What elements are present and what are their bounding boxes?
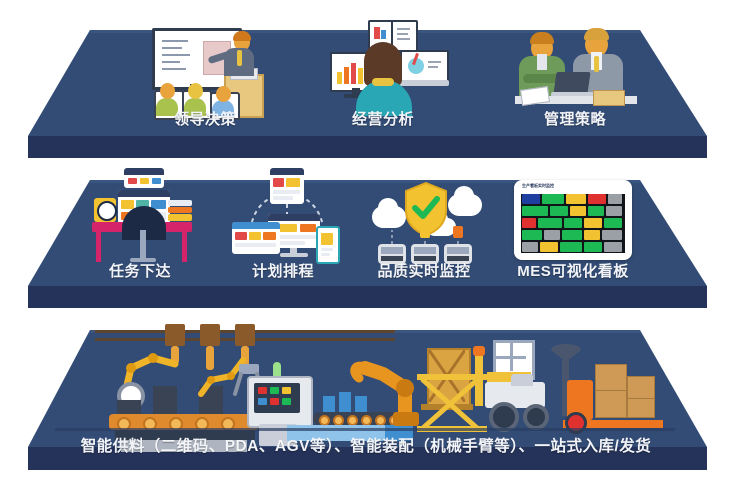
planning-schedule-screens-icon	[232, 168, 342, 264]
manager-tie	[594, 56, 599, 72]
strategy-laptop	[553, 72, 590, 94]
document-folder	[593, 90, 625, 106]
tier-execution: 任务下达	[0, 168, 733, 318]
schedule-window	[232, 222, 280, 254]
tier2-label-1: 计划排程	[252, 260, 314, 281]
machine-base	[117, 400, 141, 414]
gantry-hoist	[235, 324, 255, 346]
mes-board-screen	[521, 194, 625, 253]
tier-shopfloor-content: 智能供料（二维码、PDA、AGV等）、智能装配（机械手臂等）、一站式入库/发货	[0, 322, 733, 482]
presenter-tie	[237, 50, 242, 66]
lift-lamp	[473, 346, 485, 356]
tier2-label-3: MES可视化看板	[517, 260, 629, 281]
presenter-hair	[233, 31, 251, 41]
tier1-label-1: 经营分析	[352, 108, 414, 129]
audience-head	[216, 86, 231, 102]
meeting-presentation-icon	[152, 28, 262, 116]
lock-icon	[453, 226, 463, 238]
lock-icon	[420, 226, 430, 238]
analyst-laptop	[400, 50, 449, 84]
stand-pole	[140, 230, 146, 260]
desk-clock	[94, 198, 116, 222]
cardboard-box	[627, 376, 655, 400]
tier-decision-content: 领导决策	[0, 18, 733, 168]
machine-base	[153, 386, 177, 414]
desk-leg	[182, 232, 187, 262]
tier1-label-2: 管理策略	[544, 108, 606, 129]
product-block	[323, 396, 335, 412]
task-dispatch-desk-icon	[92, 170, 192, 264]
tier3-label: 智能供料（二维码、PDA、AGV等）、智能装配（机械手臂等）、一站式入库/发货	[81, 434, 652, 456]
mes-board-header: 生产看板实时监控	[522, 183, 554, 189]
manager-shirt-left	[537, 54, 547, 70]
cardboard-box	[595, 390, 627, 418]
diagram-canvas: 领导决策	[0, 0, 733, 487]
hmi-control-panel	[247, 376, 313, 428]
desk-books	[168, 200, 192, 206]
mes-dashboard-tablet-icon: 生产看板实时监控	[514, 180, 632, 260]
smart-factory-line-icon	[95, 324, 645, 424]
tier-decision: 领导决策	[0, 18, 733, 168]
tier-execution-content: 任务下达	[0, 168, 733, 318]
gantry-hoist	[200, 324, 220, 346]
manager-hair-right	[584, 28, 609, 40]
dispatch-top-screen	[124, 168, 164, 188]
analyst-collar	[372, 78, 394, 86]
schedule-tablet	[270, 168, 304, 204]
audience-head	[188, 83, 203, 99]
business-analysis-icon	[330, 20, 445, 116]
cardboard-box	[595, 364, 627, 392]
lift-mast	[475, 352, 483, 406]
tier1-label-0: 领导决策	[174, 108, 236, 129]
indicator-bulb	[273, 362, 281, 376]
quality-cloud-shield-icon	[372, 176, 482, 264]
audience-head	[160, 83, 175, 99]
schedule-phone	[316, 226, 340, 264]
management-strategy-icon	[515, 30, 637, 116]
tier-shopfloor: 智能供料（二维码、PDA、AGV等）、智能装配（机械手臂等）、一站式入库/发货	[0, 322, 733, 482]
tier2-label-0: 任务下达	[109, 260, 171, 281]
floor-line	[55, 428, 675, 431]
truck-cab	[511, 374, 533, 386]
cardboard-box	[627, 398, 655, 418]
laptop-base	[396, 80, 449, 86]
manager-hair-left	[530, 32, 554, 44]
desk-leg	[96, 232, 101, 262]
tier2-label-2: 品质实时监控	[377, 260, 470, 281]
